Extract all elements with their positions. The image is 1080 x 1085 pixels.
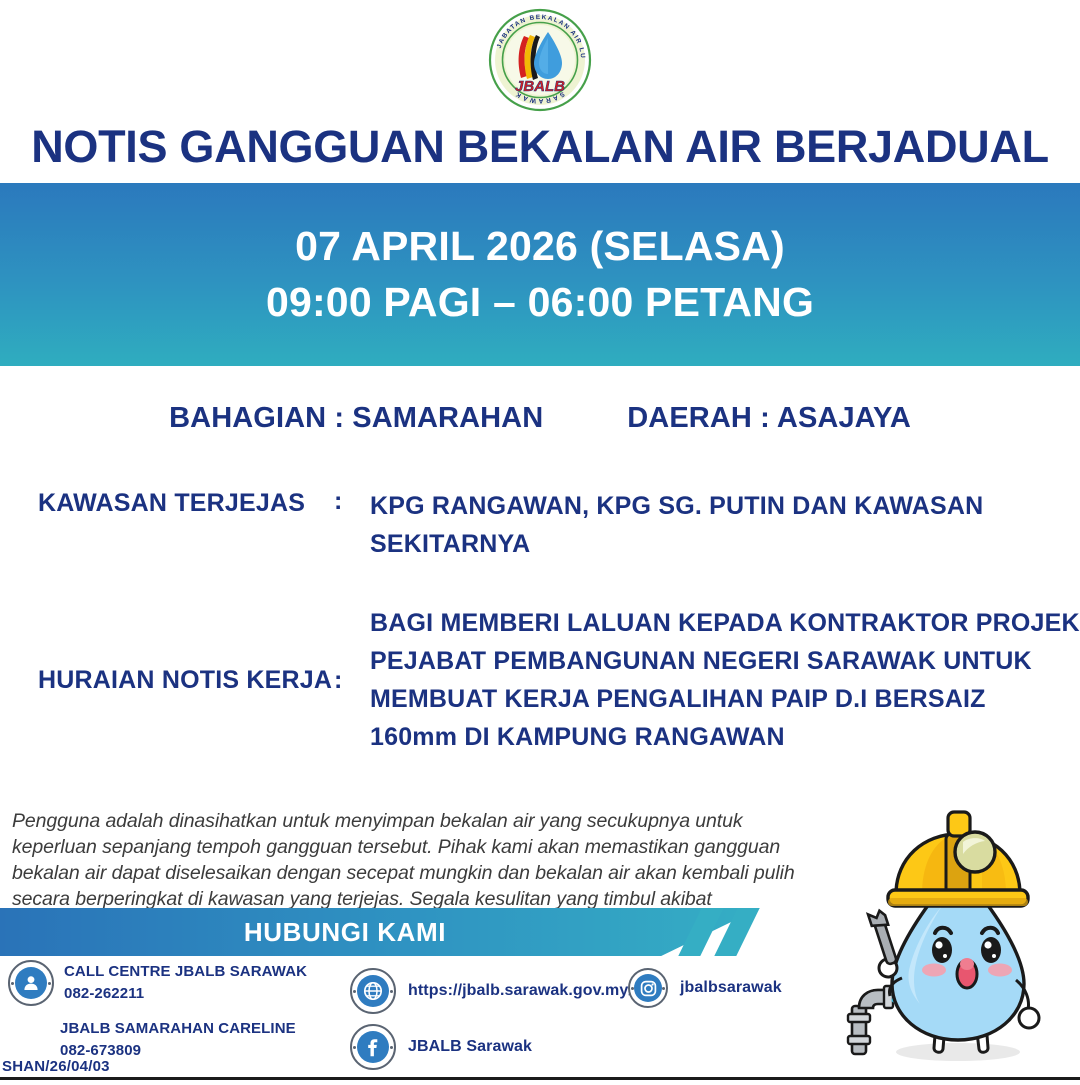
- globe-icon: [350, 968, 396, 1014]
- affected-areas-line: SEKITARNYA: [370, 525, 1042, 563]
- careline-block: JBALB SAMARAHAN CARELINE 082-673809: [60, 1018, 296, 1062]
- call-centre-phone[interactable]: 082-262211: [64, 983, 307, 1005]
- instagram-icon: [628, 968, 668, 1008]
- call-centre-block: CALL CENTRE JBALB SARAWAK 082-262211: [8, 960, 338, 1006]
- affected-areas-line: KPG RANGAWAN, KPG SG. PUTIN DAN KAWASAN: [370, 487, 1042, 525]
- person-icon: [8, 960, 54, 1006]
- outage-date: 07 APRIL 2026 (SELASA): [295, 219, 785, 275]
- affected-areas-row: KAWASAN TERJEJAS : KPG RANGAWAN, KPG SG.…: [38, 487, 1042, 563]
- facebook-icon: [350, 1024, 396, 1070]
- outage-time: 09:00 PAGI – 06:00 PETANG: [266, 275, 814, 331]
- website-url[interactable]: https://jbalb.sarawak.gov.my/: [408, 982, 633, 1000]
- contact-banner: HUBUNGI KAMI: [0, 908, 820, 956]
- work-description-line: BAGI MEMBERI LALUAN KEPADA KONTRAKTOR PR…: [370, 604, 1080, 642]
- work-description-line: 160mm DI KAMPUNG RANGAWAN: [370, 718, 1080, 756]
- work-description-colon: :: [334, 666, 370, 695]
- date-time-banner: 07 APRIL 2026 (SELASA) 09:00 PAGI – 06:0…: [0, 183, 1080, 366]
- call-centre-text: CALL CENTRE JBALB SARAWAK 082-262211: [64, 961, 307, 1005]
- division-district-row: BAHAGIAN : SAMARAHAN DAERAH : ASAJAYA: [0, 402, 1080, 435]
- website-item[interactable]: https://jbalb.sarawak.gov.my/: [350, 968, 633, 1014]
- jbalb-logo-icon: JBALB JABATAN BEKALAN AIR LUAR BANDAR SA…: [488, 8, 592, 112]
- svg-text:JBALB: JBALB: [515, 78, 565, 95]
- work-description-line: MEMBUAT KERJA PENGALIHAN PAIP D.I BERSAI…: [370, 680, 1080, 718]
- page-title: NOTIS GANGGUAN BEKALAN AIR BERJADUAL: [0, 124, 1080, 169]
- affected-areas-label: KAWASAN TERJEJAS: [38, 487, 334, 519]
- facebook-name[interactable]: JBALB Sarawak: [408, 1038, 532, 1056]
- contact-banner-title: HUBUNGI KAMI: [0, 908, 690, 956]
- work-description-line: PEJABAT PEMBANGUNAN NEGERI SARAWAK UNTUK: [370, 642, 1080, 680]
- facebook-item[interactable]: JBALB Sarawak: [350, 1024, 532, 1070]
- work-description-value: BAGI MEMBERI LALUAN KEPADA KONTRAKTOR PR…: [370, 604, 1080, 756]
- instagram-item[interactable]: jbalbsarawak: [628, 968, 782, 1008]
- reference-code: SHAN/26/04/03: [2, 1058, 110, 1075]
- affected-areas-colon: :: [334, 487, 370, 516]
- notice-poster: JBALB JABATAN BEKALAN AIR LUAR BANDAR SA…: [0, 0, 1080, 1080]
- call-centre-item: CALL CENTRE JBALB SARAWAK 082-262211: [8, 960, 338, 1006]
- call-centre-name: CALL CENTRE JBALB SARAWAK: [64, 961, 307, 983]
- daerah-label: DAERAH : ASAJAYA: [627, 402, 911, 435]
- affected-areas-value: KPG RANGAWAN, KPG SG. PUTIN DAN KAWASAN …: [370, 487, 1042, 563]
- water-drop-worker-mascot-icon: [830, 790, 1080, 1080]
- logo-container: JBALB JABATAN BEKALAN AIR LUAR BANDAR SA…: [0, 8, 1080, 112]
- careline-name: JBALB SAMARAHAN CARELINE: [60, 1018, 296, 1040]
- work-description-row: HURAIAN NOTIS KERJA : BAGI MEMBERI LALUA…: [38, 604, 1042, 756]
- bahagian-label: BAHAGIAN : SAMARAHAN: [169, 402, 543, 435]
- instagram-handle[interactable]: jbalbsarawak: [680, 979, 782, 997]
- work-description-label: HURAIAN NOTIS KERJA: [38, 664, 334, 696]
